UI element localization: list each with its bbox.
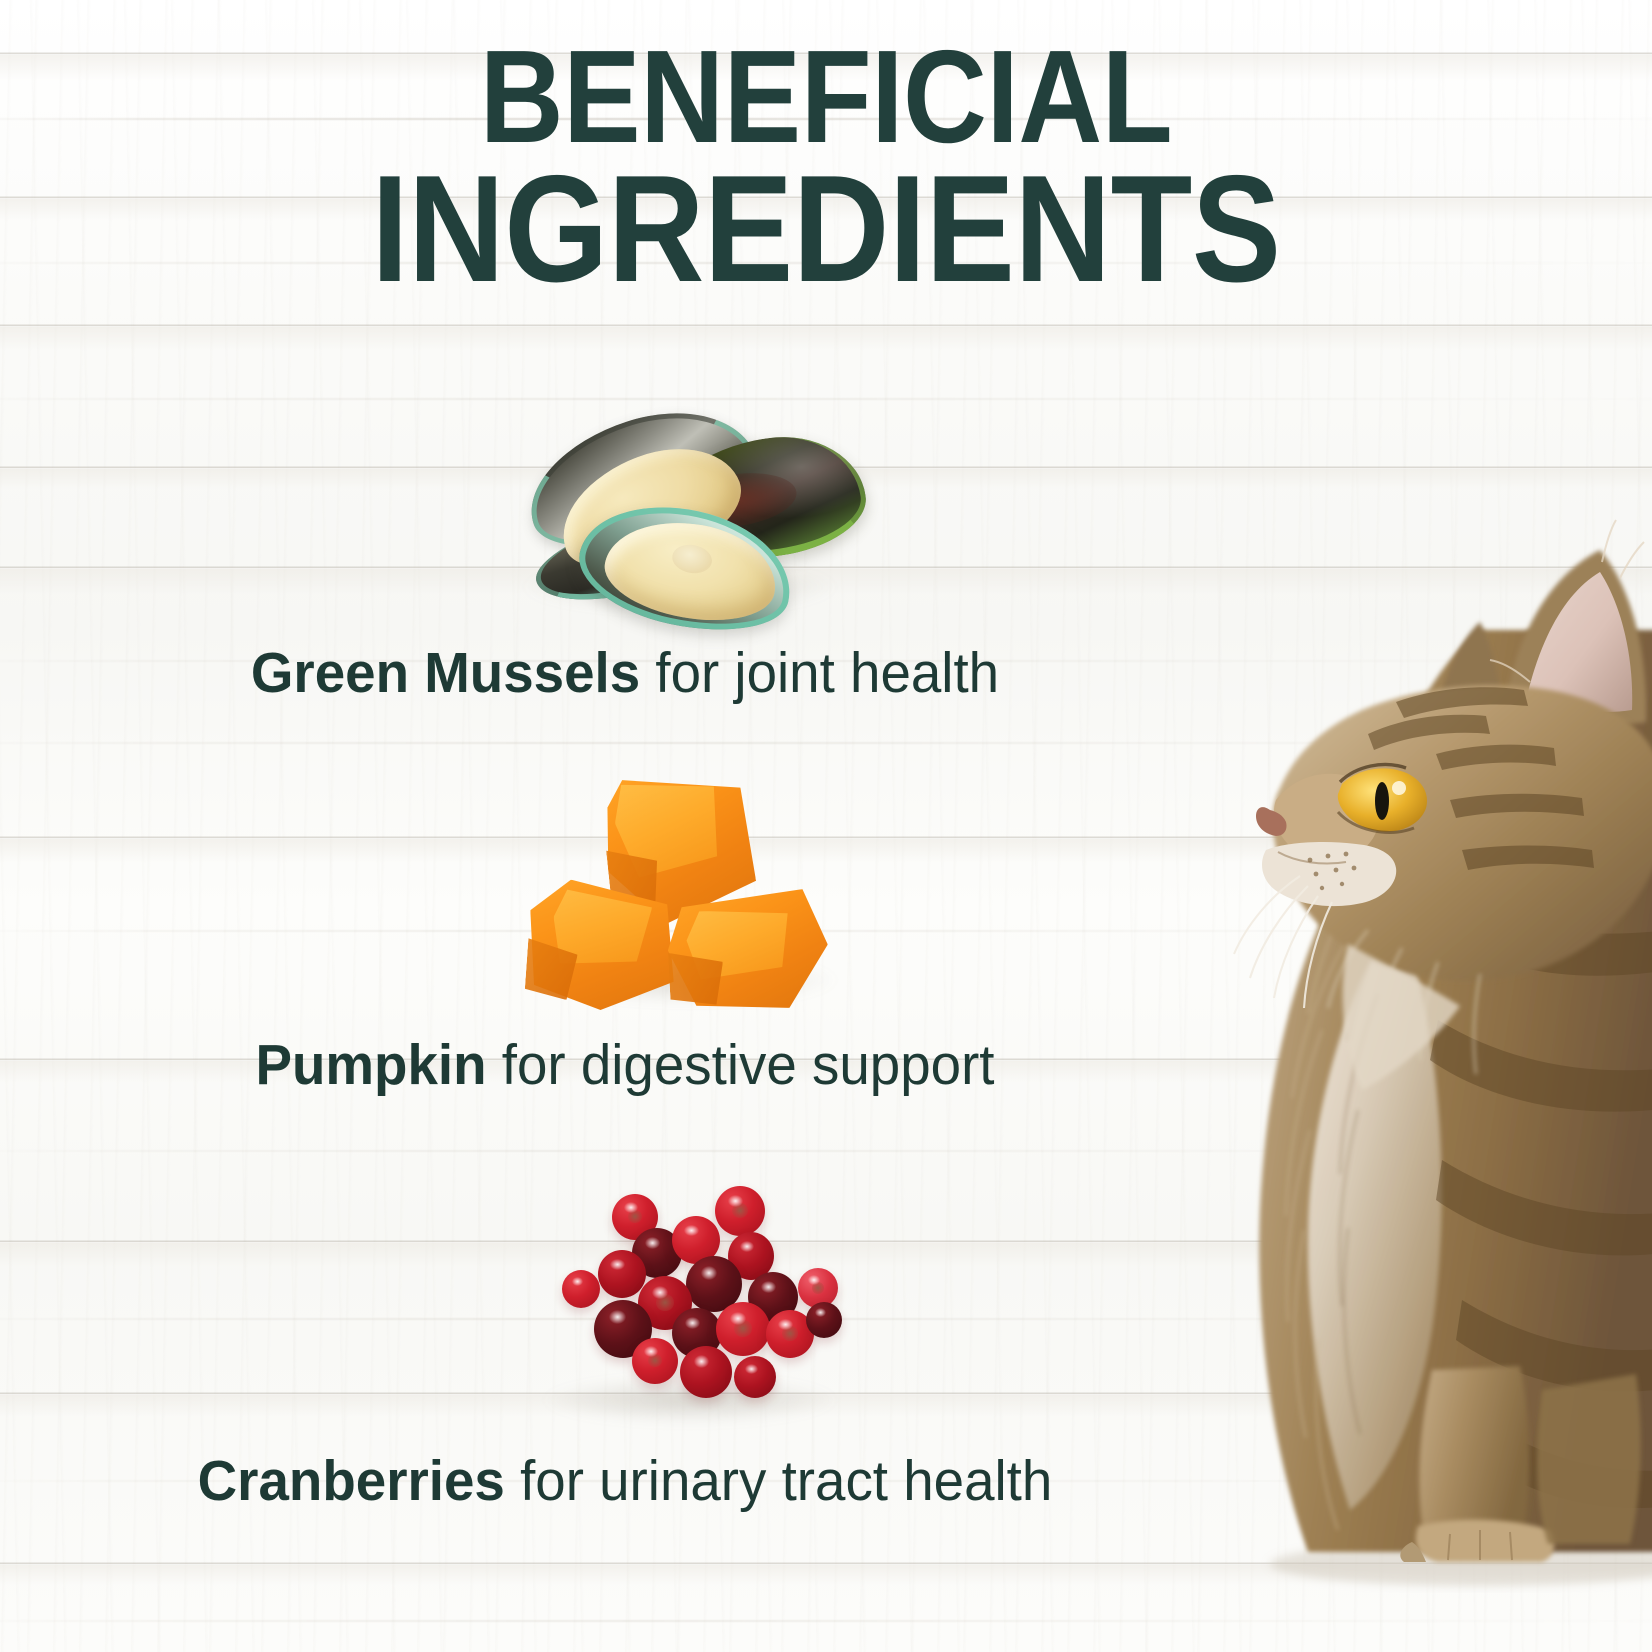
cranberry [562, 1270, 600, 1308]
caption-pumpkin: Pumpkin for digestive support [25, 1032, 1225, 1098]
cranberry [598, 1250, 646, 1298]
caption-cranberries: Cranberries for urinary tract health [25, 1448, 1225, 1514]
pumpkin-chunk-left [524, 877, 681, 1015]
cranberries-image [520, 1180, 840, 1430]
green-mussels-image [505, 398, 845, 633]
caption-rest-green-mussels: for joint health [640, 641, 999, 705]
caption-rest-pumpkin: for digestive support [487, 1033, 995, 1097]
title-line-1: BENEFICIAL [99, 32, 1553, 161]
title-line-2: INGREDIENTS [99, 155, 1553, 304]
caption-bold-cranberries: Cranberries [198, 1449, 505, 1513]
caption-bold-pumpkin: Pumpkin [255, 1033, 486, 1097]
tabby-cat-image [1150, 330, 1652, 1652]
caption-bold-green-mussels: Green Mussels [251, 641, 640, 705]
cranberry [734, 1356, 776, 1398]
pumpkin-chunk-right [665, 888, 831, 1014]
caption-green-mussels: Green Mussels for joint health [25, 640, 1225, 706]
pumpkin-image [528, 762, 848, 1008]
cranberry [715, 1186, 765, 1236]
cranberry [806, 1302, 842, 1338]
ingredients-poster: BENEFICIAL INGREDIENTS Green Mussels for… [0, 0, 1652, 1652]
poster-title: BENEFICIAL INGREDIENTS [0, 32, 1652, 304]
cranberry [680, 1346, 732, 1398]
cranberry [632, 1338, 678, 1384]
caption-rest-cranberries: for urinary tract health [505, 1449, 1052, 1513]
cranberry [716, 1302, 770, 1356]
